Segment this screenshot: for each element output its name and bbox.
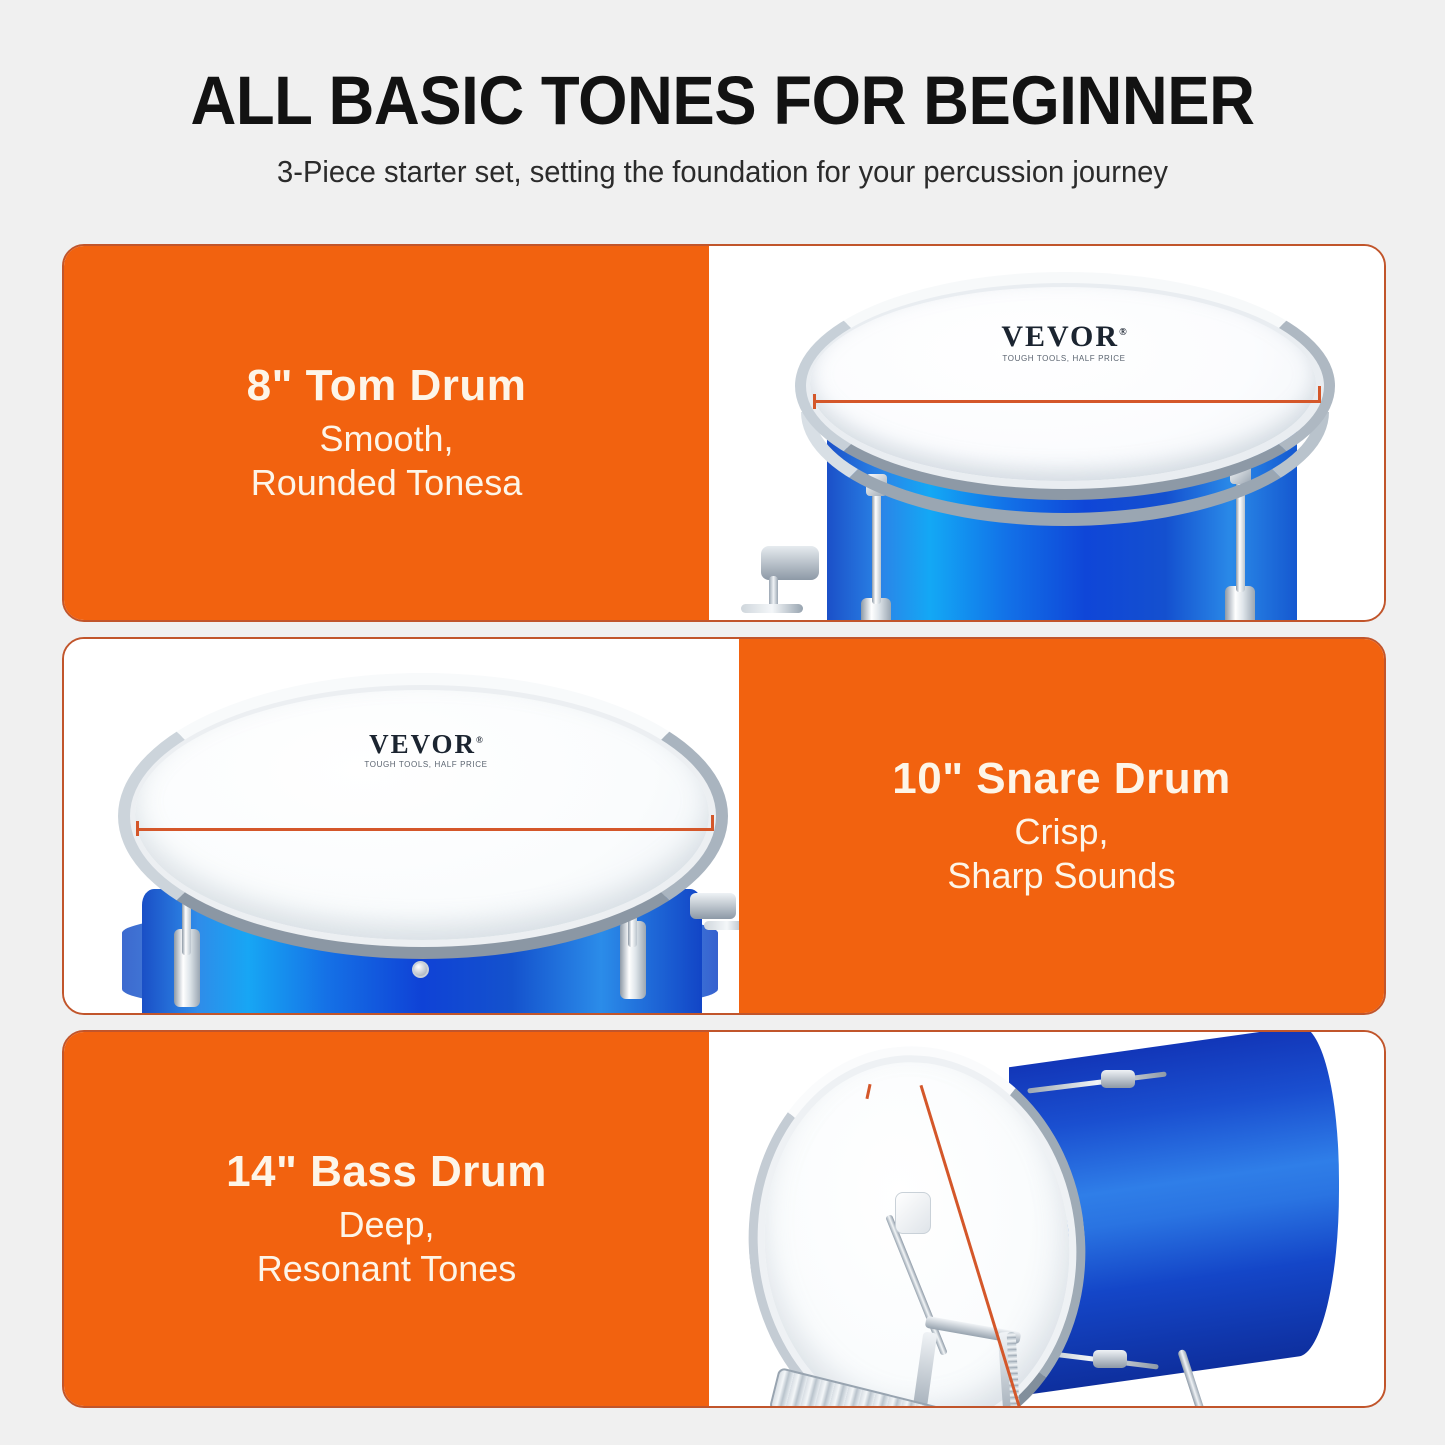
bass-claw-hook-bottom xyxy=(1093,1350,1127,1368)
bass-drum-text-panel: 14" Bass Drum Deep, Resonant Tones xyxy=(64,1032,709,1406)
tom-mount-bracket xyxy=(761,546,819,580)
bass-beater-head xyxy=(895,1192,931,1234)
snare-drum-text-panel: 10" Snare Drum Crisp, Sharp Sounds xyxy=(739,639,1384,1013)
tom-measure-line xyxy=(813,400,1321,403)
tom-drum-text-panel: 8" Tom Drum Smooth, Rounded Tonesa xyxy=(64,246,709,620)
page-title: ALL BASIC TONES FOR BEGINNER xyxy=(58,66,1387,135)
snare-drum-illustration: VEVOR® TOUGH TOOLS, HALF PRICE xyxy=(64,639,739,1013)
tom-drum-photo: VEVOR® TOUGH TOOLS, HALF PRICE xyxy=(709,246,1384,620)
snare-measure-cap-right xyxy=(711,815,714,830)
snare-throw-off xyxy=(690,893,736,919)
feature-card-list: 8" Tom Drum Smooth, Rounded Tonesa xyxy=(62,244,1386,1423)
page-header: ALL BASIC TONES FOR BEGINNER 3-Piece sta… xyxy=(0,0,1445,190)
snare-drum-subtitle: Crisp, Sharp Sounds xyxy=(947,810,1175,898)
tom-drum-hoop xyxy=(795,272,1335,500)
bass-claw-hook-top xyxy=(1101,1070,1135,1088)
feature-card-bass-drum[interactable]: 14" Bass Drum Deep, Resonant Tones xyxy=(62,1030,1386,1408)
tom-drum-subtitle: Smooth, Rounded Tonesa xyxy=(251,417,523,505)
bass-drum-photo xyxy=(709,1032,1384,1406)
tom-drum-title: 8" Tom Drum xyxy=(247,361,527,412)
tom-tension-rod-left xyxy=(872,484,881,604)
snare-measure-line xyxy=(136,828,714,831)
snare-strainer-lever xyxy=(704,921,739,930)
page-subtitle: 3-Piece starter set, setting the foundat… xyxy=(43,154,1401,190)
snare-vent-screw xyxy=(412,961,429,978)
bass-drum-subtitle: Deep, Resonant Tones xyxy=(257,1203,517,1291)
tom-measure-cap-right xyxy=(1318,386,1321,401)
snare-drum-title: 10" Snare Drum xyxy=(892,754,1230,805)
bass-drum-title: 14" Bass Drum xyxy=(226,1147,547,1198)
bass-drum-illustration xyxy=(709,1032,1384,1406)
snare-drum-hoop xyxy=(118,673,728,959)
snare-drum-photo: VEVOR® TOUGH TOOLS, HALF PRICE xyxy=(64,639,739,1013)
feature-card-tom-drum[interactable]: 8" Tom Drum Smooth, Rounded Tonesa xyxy=(62,244,1386,622)
feature-card-snare-drum[interactable]: 10" Snare Drum Crisp, Sharp Sounds VEVOR… xyxy=(62,637,1386,1015)
tom-drum-illustration: VEVOR® TOUGH TOOLS, HALF PRICE xyxy=(709,246,1384,620)
tom-wing-screw xyxy=(741,604,803,613)
